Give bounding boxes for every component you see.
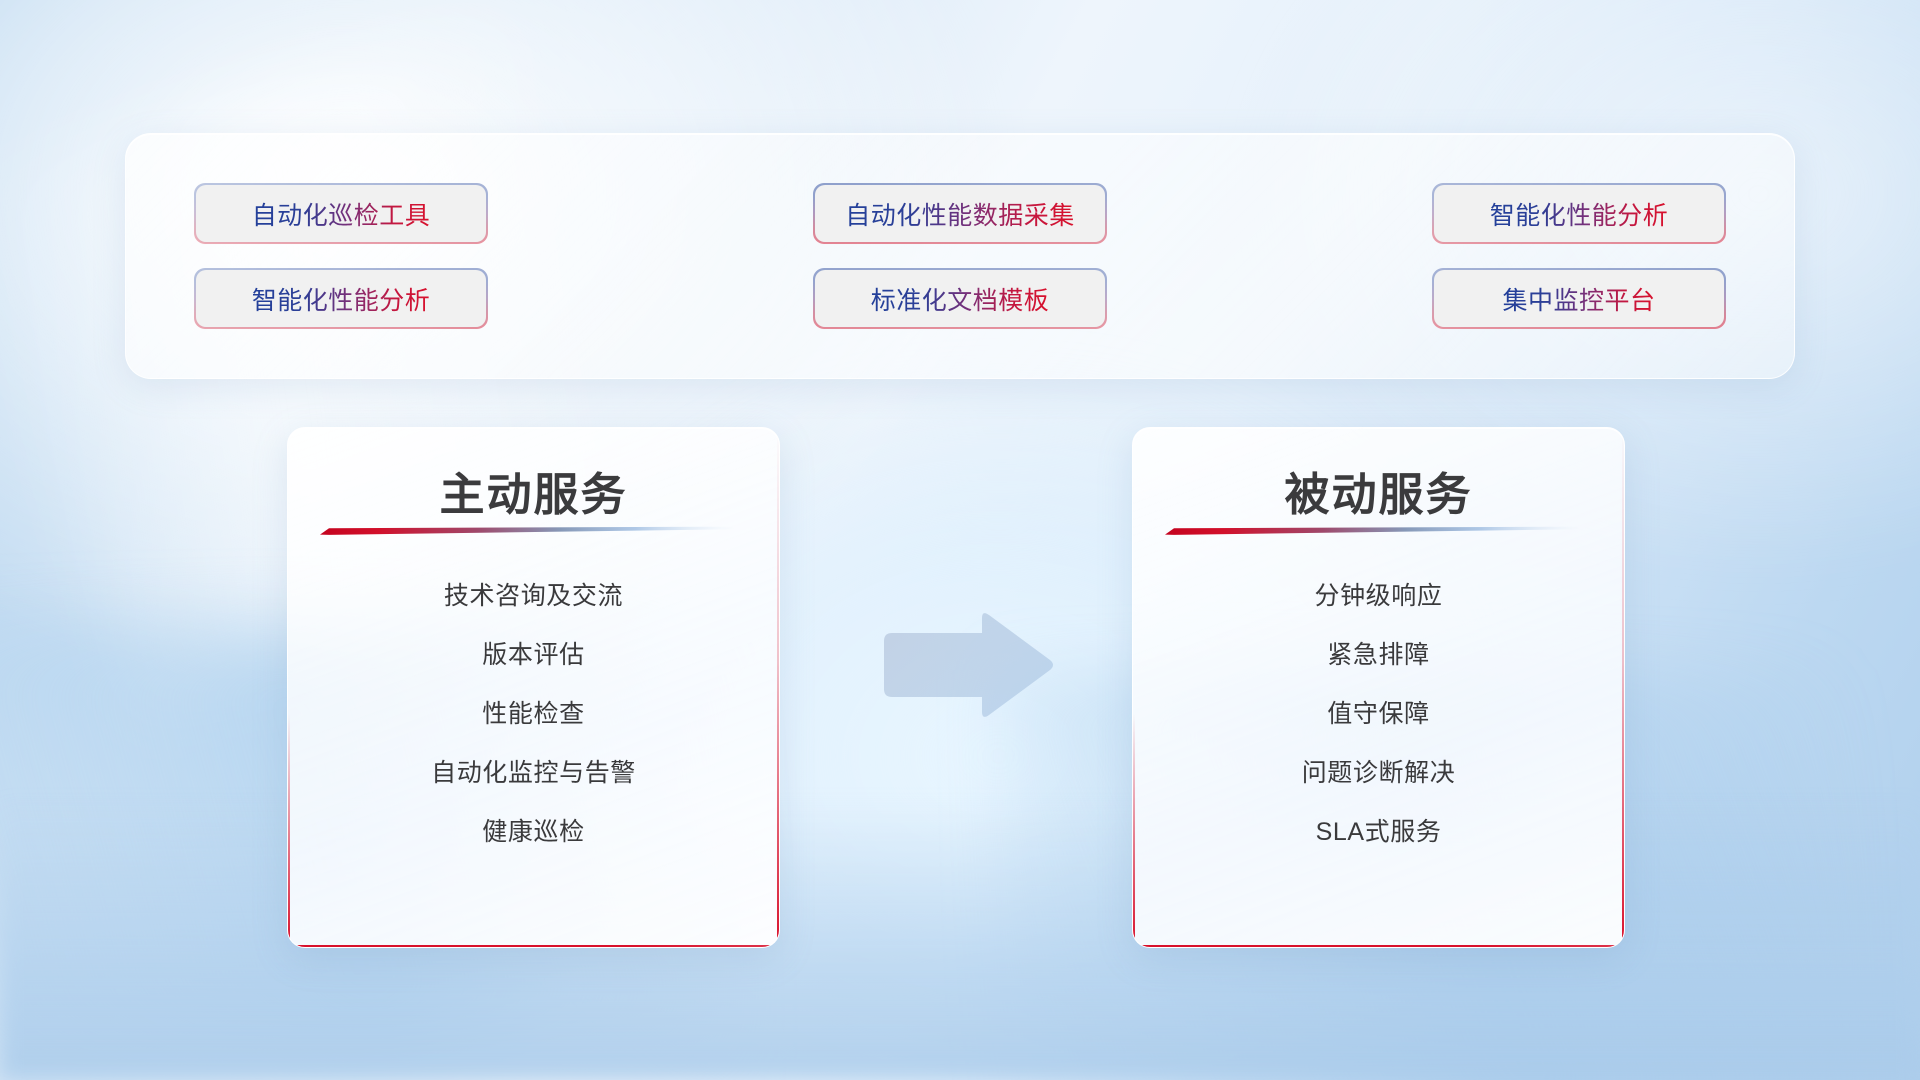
- capability-tag[interactable]: 智能化性能分析: [1434, 185, 1724, 242]
- capability-tag-label: 标准化文档模板: [871, 281, 1050, 317]
- capability-tag-label: 自动化巡检工具: [252, 196, 431, 232]
- card-item-list: 技术咨询及交流 版本评估 性能检查 自动化监控与告警 健康巡检: [288, 564, 779, 859]
- capability-tag[interactable]: 标准化文档模板: [815, 270, 1105, 327]
- card-item-list: 分钟级响应 紧急排障 值守保障 问题诊断解决 SLA式服务: [1133, 564, 1624, 859]
- capability-tag[interactable]: 自动化性能数据采集: [815, 185, 1105, 242]
- capability-panel: 自动化巡检工具 自动化性能数据采集 智能化性能分析 智能化性能分析 标准化文档模…: [125, 133, 1795, 379]
- service-card-proactive[interactable]: 主动服务 技术咨询及交流 版本评估 性能检查: [287, 427, 780, 948]
- card-list-item: 自动化监控与告警: [431, 741, 636, 800]
- diagram-stage: 自动化巡检工具 自动化性能数据采集 智能化性能分析 智能化性能分析 标准化文档模…: [0, 0, 1920, 1080]
- service-card-reactive[interactable]: 被动服务 分钟级响应 紧急排障 值守保障: [1132, 427, 1625, 948]
- card-accent-bottom: [1133, 945, 1624, 947]
- card-title: 主动服务: [288, 458, 779, 523]
- card-divider: [320, 526, 735, 535]
- arrow-right-icon: [876, 611, 1056, 721]
- card-list-item: SLA式服务: [1316, 800, 1442, 859]
- card-list-item: 性能检查: [482, 682, 584, 741]
- card-divider: [1165, 526, 1580, 535]
- capability-tag-label: 自动化性能数据采集: [845, 196, 1075, 232]
- capability-tag-label: 智能化性能分析: [252, 281, 431, 317]
- card-list-item: 版本评估: [482, 623, 584, 682]
- card-list-item: 健康巡检: [482, 800, 584, 859]
- capability-tag-label: 集中监控平台: [1502, 281, 1655, 317]
- card-accent-bottom: [288, 945, 779, 947]
- capability-tag-grid: 自动化巡检工具 自动化性能数据采集 智能化性能分析 智能化性能分析 标准化文档模…: [126, 134, 1794, 378]
- capability-tag-label: 智能化性能分析: [1490, 196, 1669, 232]
- card-list-item: 问题诊断解决: [1302, 741, 1456, 800]
- card-title: 被动服务: [1133, 458, 1624, 523]
- card-list-item: 技术咨询及交流: [444, 564, 623, 623]
- card-list-item: 值守保障: [1327, 682, 1429, 741]
- capability-tag[interactable]: 自动化巡检工具: [196, 185, 486, 242]
- card-list-item: 紧急排障: [1327, 623, 1429, 682]
- card-list-item: 分钟级响应: [1314, 564, 1442, 623]
- capability-tag[interactable]: 智能化性能分析: [196, 270, 486, 327]
- capability-tag[interactable]: 集中监控平台: [1434, 270, 1724, 327]
